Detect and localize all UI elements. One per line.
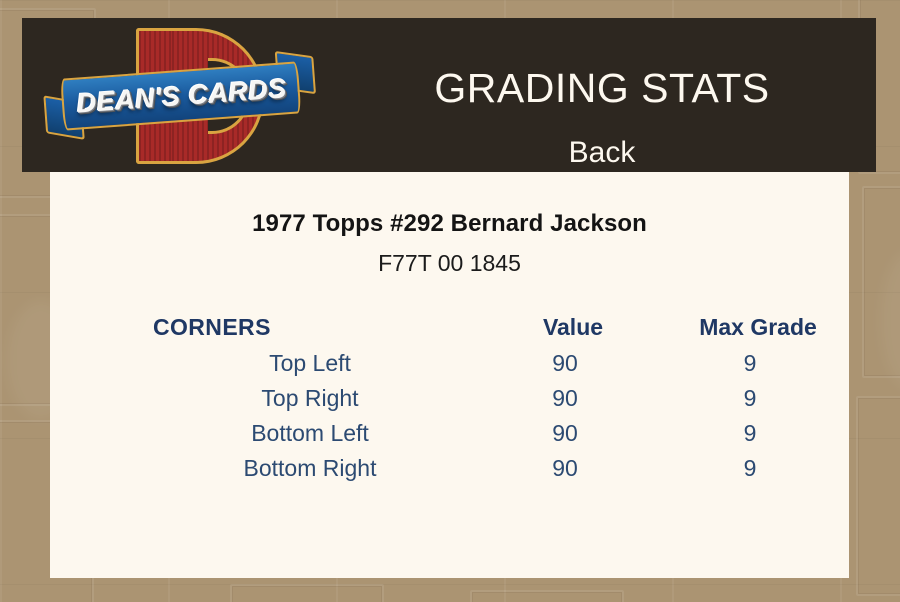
background-card-shape [856,396,900,596]
column-header-value: Value [483,314,663,341]
row-value: 90 [475,420,655,447]
card-title: 1977 Topps #292 Bernard Jackson [50,210,849,238]
row-max-grade: 9 [655,350,845,377]
row-max-grade: 9 [655,385,845,412]
column-header-corners: CORNERS [145,314,483,341]
table-row: Top Right 90 9 [145,381,855,416]
row-value: 90 [475,385,655,412]
header-bar: DEAN'S CARDS GRADING STATS Back [22,18,876,172]
row-label: Top Right [145,385,475,412]
logo-banner-ribbon: DEAN'S CARDS [48,60,314,137]
row-max-grade: 9 [655,455,845,482]
table-row: Bottom Left 90 9 [145,416,855,451]
grading-stats-page: DEAN'S CARDS GRADING STATS Back 1977 Top… [0,0,900,602]
row-label: Top Left [145,350,475,377]
background-card-shape [230,584,384,602]
row-label: Bottom Left [145,420,475,447]
column-header-max-grade: Max Grade [663,314,853,341]
row-value: 90 [475,455,655,482]
card-serial-number: F77T 00 1845 [50,250,849,277]
table-header-row: CORNERS Value Max Grade [145,308,855,346]
background-card-shape [470,590,624,602]
page-title: GRADING STATS [322,64,882,112]
content-panel: 1977 Topps #292 Bernard Jackson F77T 00 … [50,172,849,578]
table-row: Bottom Right 90 9 [145,451,855,486]
row-max-grade: 9 [655,420,845,447]
grading-stats-table: CORNERS Value Max Grade Top Left 90 9 To… [145,308,855,486]
page-subtitle: Back [322,136,882,170]
deans-cards-logo: DEAN'S CARDS [48,22,314,170]
row-label: Bottom Right [145,455,475,482]
logo-banner-text: DEAN'S CARDS [62,61,301,130]
table-row: Top Left 90 9 [145,346,855,381]
row-value: 90 [475,350,655,377]
